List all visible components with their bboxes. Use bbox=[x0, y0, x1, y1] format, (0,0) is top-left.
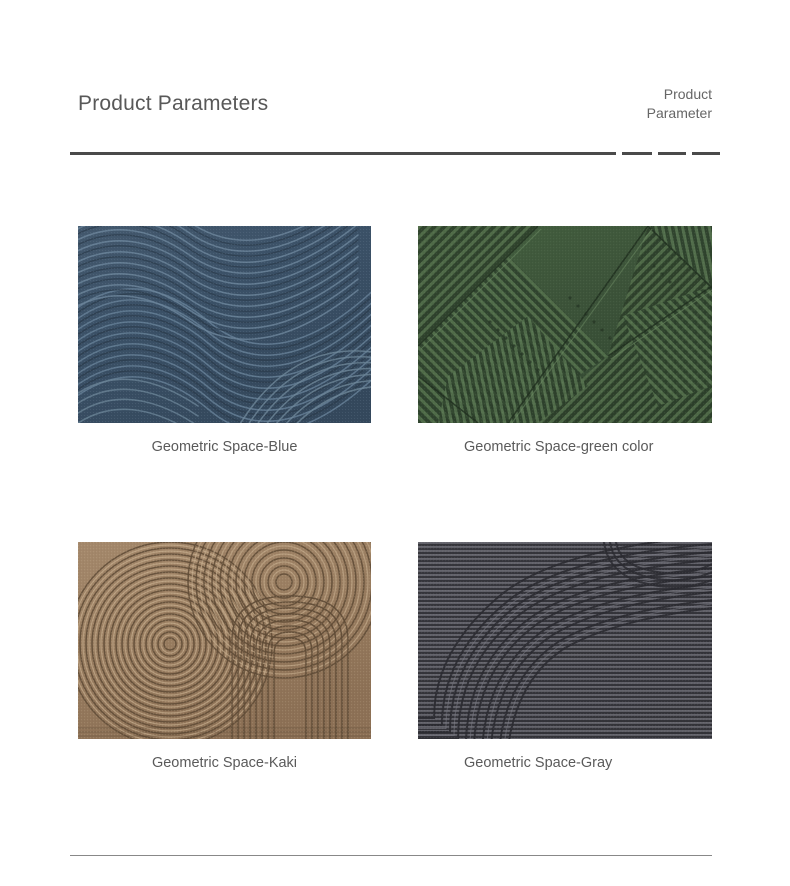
gallery-row-2: Geometric Space-Kaki bbox=[0, 542, 790, 782]
divider-dash-2 bbox=[658, 152, 686, 155]
divider-dash-1 bbox=[622, 152, 652, 155]
product-image-blue[interactable] bbox=[78, 226, 371, 423]
product-gallery: Geometric Space-Blue bbox=[0, 226, 790, 782]
header-divider bbox=[70, 151, 712, 155]
gallery-row-1: Geometric Space-Blue bbox=[0, 226, 790, 543]
product-caption-blue: Geometric Space-Blue bbox=[78, 423, 371, 457]
product-caption-kaki: Geometric Space-Kaki bbox=[78, 739, 371, 773]
page-header: Product Parameters Product Parameter bbox=[78, 78, 712, 158]
page-title: Product Parameters bbox=[78, 92, 268, 116]
product-card-gray[interactable]: Geometric Space-Gray bbox=[418, 542, 712, 773]
product-image-kaki[interactable] bbox=[78, 542, 371, 739]
footer-divider bbox=[70, 855, 712, 856]
corner-label: Product Parameter bbox=[582, 85, 712, 123]
product-caption-gray: Geometric Space-Gray bbox=[418, 739, 712, 773]
product-image-green[interactable] bbox=[418, 226, 712, 423]
product-card-kaki[interactable]: Geometric Space-Kaki bbox=[78, 542, 371, 773]
product-card-green[interactable]: Geometric Space-green color bbox=[418, 226, 712, 457]
corner-label-line-2: Parameter bbox=[582, 104, 712, 123]
divider-solid-segment bbox=[70, 152, 616, 155]
divider-dash-3 bbox=[692, 152, 720, 155]
product-card-blue[interactable]: Geometric Space-Blue bbox=[78, 226, 371, 457]
product-caption-green: Geometric Space-green color bbox=[418, 423, 712, 457]
corner-label-line-1: Product bbox=[582, 85, 712, 104]
product-image-gray[interactable] bbox=[418, 542, 712, 739]
